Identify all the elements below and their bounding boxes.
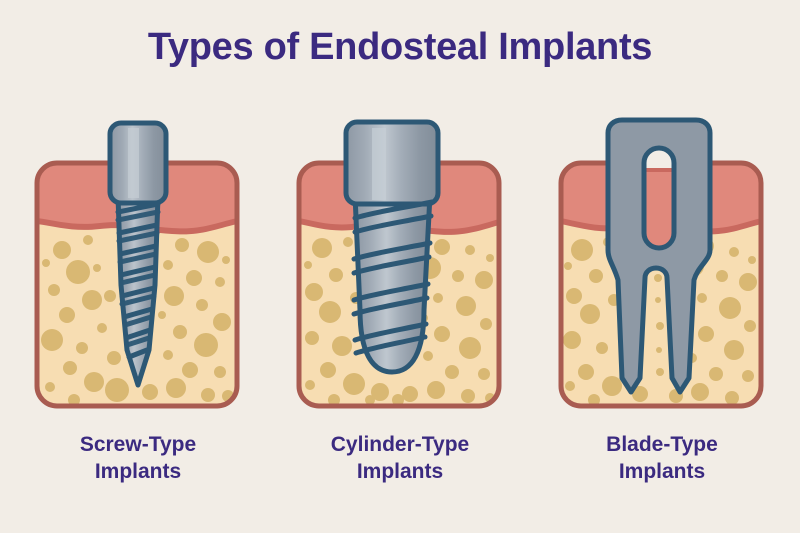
panel-cylinder-type: Cylinder-Type Implants	[284, 100, 516, 500]
figure-screw-type	[22, 100, 254, 420]
blade-upper-slot	[642, 146, 676, 250]
panel-screw-type: Screw-Type Implants	[22, 100, 254, 500]
figure-cylinder-type	[284, 100, 516, 420]
panel-label-blade-type: Blade-Type Implants	[606, 432, 718, 486]
implant-panels: Screw-Type Implants	[0, 100, 800, 500]
figure-blade-type	[546, 100, 778, 420]
page-title: Types of Endosteal Implants	[0, 26, 800, 69]
panel-blade-type: Blade-Type Implants	[546, 100, 778, 500]
implant-cylinder	[346, 122, 438, 372]
panel-label-screw-type: Screw-Type Implants	[80, 432, 196, 486]
panel-label-cylinder-type: Cylinder-Type Implants	[331, 432, 469, 486]
abutment	[346, 122, 438, 204]
